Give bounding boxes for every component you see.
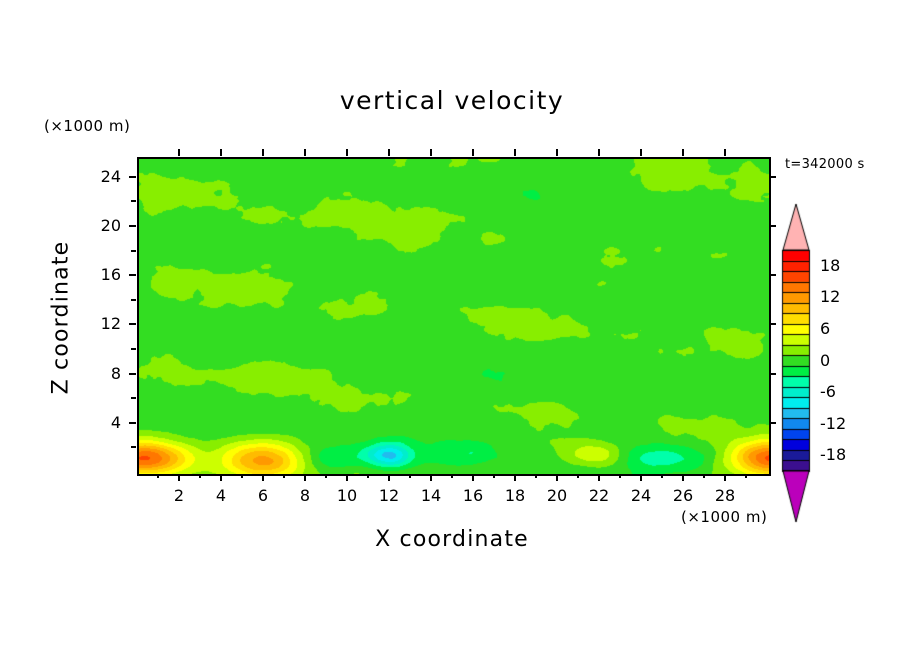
x-axis-tick-top (388, 149, 390, 156)
contour-plot-area (137, 157, 771, 476)
x-axis-minor-tick (703, 474, 705, 478)
x-axis-tick-top (556, 149, 558, 156)
y-axis-tick (129, 225, 136, 227)
y-axis-tick-right (769, 176, 776, 178)
x-axis-tick-top (682, 149, 684, 156)
x-axis-tick (178, 474, 180, 481)
y-axis-minor-tick (131, 200, 136, 202)
x-axis-minor-tick (283, 474, 285, 478)
x-axis-tick (262, 474, 264, 481)
colorbar-canvas (781, 203, 811, 523)
y-axis-tick-right (769, 225, 776, 227)
x-axis-minor-tick (199, 474, 201, 478)
x-axis-minor-tick (325, 474, 327, 478)
x-axis-tick-top (724, 149, 726, 156)
x-axis-minor-tick (241, 474, 243, 478)
y-axis-tick (129, 274, 136, 276)
x-axis-tick-label: 28 (695, 486, 755, 505)
y-axis-minor-tick (131, 348, 136, 350)
x-axis-minor-tick (619, 474, 621, 478)
y-axis-tick-label: 24 (61, 167, 121, 186)
timestamp-annotation: t=342000 s (785, 157, 865, 172)
y-axis-tick-right (769, 274, 776, 276)
x-axis-tick (220, 474, 222, 481)
x-axis-tick (472, 474, 474, 481)
y-axis-minor-tick (131, 397, 136, 399)
x-axis-tick (346, 474, 348, 481)
y-axis-tick (129, 373, 136, 375)
x-axis-minor-tick (409, 474, 411, 478)
x-axis-tick-top (640, 149, 642, 156)
contour-figure: vertical velocity (×1000 m) (×1000 m) t=… (0, 0, 904, 654)
x-axis-tick (304, 474, 306, 481)
y-axis-tick-right (769, 422, 776, 424)
x-axis-minor-tick (577, 474, 579, 478)
colorbar-tick-label: 12 (820, 287, 840, 306)
y-axis-tick-right (769, 323, 776, 325)
x-axis-minor-tick (661, 474, 663, 478)
x-axis-minor-tick (493, 474, 495, 478)
colorbar (781, 203, 811, 523)
contour-field-canvas (139, 159, 769, 474)
colorbar-tick-label: -18 (820, 445, 846, 464)
z-axis-unit-label: (×1000 m) (44, 117, 130, 135)
x-axis-tick (724, 474, 726, 481)
x-axis-unit-label: (×1000 m) (681, 508, 767, 526)
x-axis-minor-tick (745, 474, 747, 478)
y-axis-tick (129, 323, 136, 325)
x-axis-tick-top (430, 149, 432, 156)
page-title: vertical velocity (0, 86, 904, 115)
y-axis-minor-tick (131, 250, 136, 252)
x-axis-tick-top (262, 149, 264, 156)
x-axis-title: X coordinate (0, 527, 904, 552)
x-axis-tick (388, 474, 390, 481)
x-axis-tick (598, 474, 600, 481)
x-axis-tick (682, 474, 684, 481)
x-axis-minor-tick (157, 474, 159, 478)
y-axis-title: Z coordinate (49, 218, 74, 418)
x-axis-tick-top (514, 149, 516, 156)
x-axis-tick-top (220, 149, 222, 156)
x-axis-tick-top (346, 149, 348, 156)
y-axis-minor-tick (131, 299, 136, 301)
x-axis-minor-tick (367, 474, 369, 478)
x-axis-tick-top (472, 149, 474, 156)
x-axis-tick-top (178, 149, 180, 156)
x-axis-minor-tick (451, 474, 453, 478)
colorbar-tick-label: 18 (820, 256, 840, 275)
x-axis-tick (640, 474, 642, 481)
x-axis-minor-tick (535, 474, 537, 478)
colorbar-tick-label: -12 (820, 414, 846, 433)
x-axis-tick (430, 474, 432, 481)
x-axis-tick-top (304, 149, 306, 156)
x-axis-tick (514, 474, 516, 481)
y-axis-tick (129, 176, 136, 178)
y-axis-minor-tick (131, 446, 136, 448)
y-axis-tick-right (769, 373, 776, 375)
y-axis-tick (129, 422, 136, 424)
colorbar-tick-label: 6 (820, 319, 830, 338)
x-axis-tick (556, 474, 558, 481)
colorbar-tick-label: -6 (820, 382, 836, 401)
x-axis-tick-top (598, 149, 600, 156)
colorbar-tick-label: 0 (820, 351, 830, 370)
